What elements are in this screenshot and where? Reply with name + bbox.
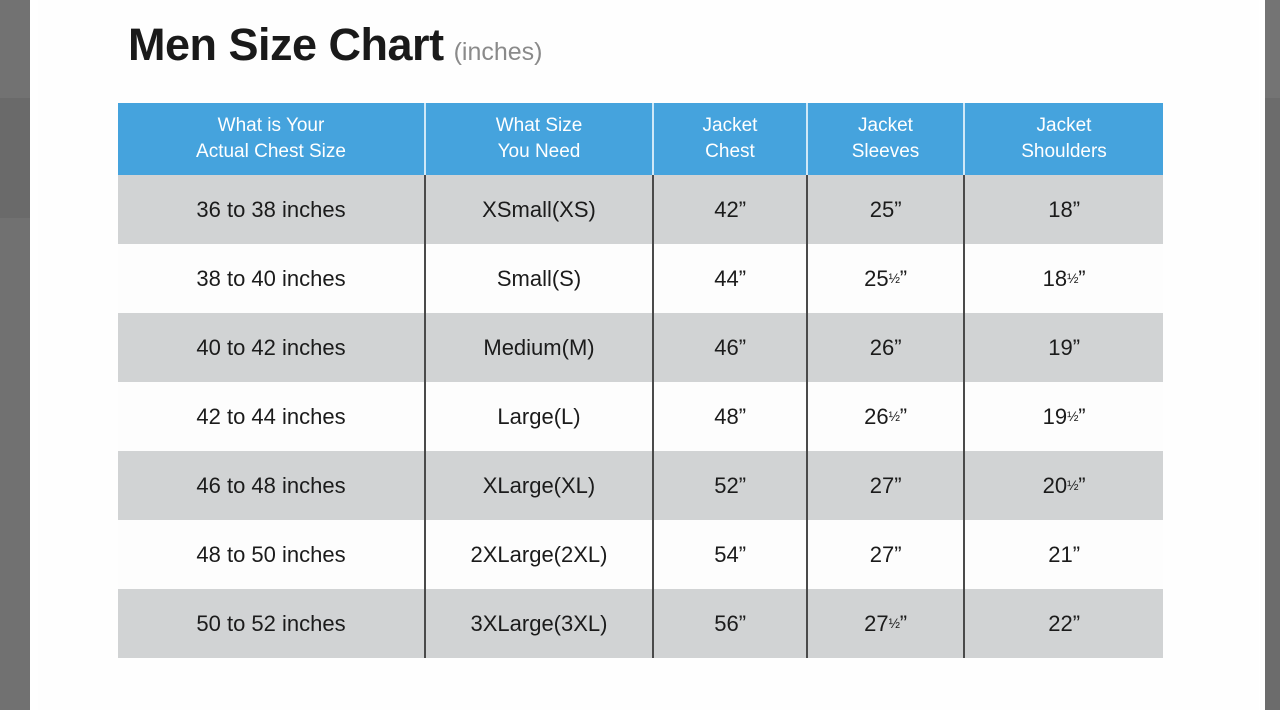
table-row: 48 to 50 inches2XLarge(2XL)54”27”21” xyxy=(118,520,1163,589)
cell-jacket-chest: 42” xyxy=(653,175,807,244)
fraction-half: ½ xyxy=(889,616,900,631)
cell-size-you-need: Medium(M) xyxy=(425,313,653,382)
column-header-line2: Shoulders xyxy=(969,139,1159,165)
cell-jacket-chest: 54” xyxy=(653,520,807,589)
size-chart-page: Men Size Chart (inches) What is Your Act… xyxy=(38,0,1259,710)
cell-jacket-sleeves: 27” xyxy=(807,451,964,520)
inch-mark: ” xyxy=(894,542,901,567)
left-band-segment-top xyxy=(0,0,30,98)
cell-size-you-need: 2XLarge(2XL) xyxy=(425,520,653,589)
table-row: 38 to 40 inchesSmall(S)44”25½”18½” xyxy=(118,244,1163,313)
inch-mark: ” xyxy=(900,611,907,636)
cell-actual-chest-size: 46 to 48 inches xyxy=(118,451,425,520)
cell-jacket-shoulders: 20½” xyxy=(964,451,1163,520)
column-header-line2: Chest xyxy=(658,139,802,165)
inch-mark: ” xyxy=(1073,335,1080,360)
cell-jacket-shoulders: 22” xyxy=(964,589,1163,658)
inch-mark: ” xyxy=(739,473,746,498)
cell-jacket-sleeves: 27½” xyxy=(807,589,964,658)
inch-mark: ” xyxy=(739,266,746,291)
table-row: 36 to 38 inchesXSmall(XS)42”25”18” xyxy=(118,175,1163,244)
inch-mark: ” xyxy=(739,197,746,222)
right-edge-band xyxy=(1265,0,1280,710)
cell-jacket-chest: 52” xyxy=(653,451,807,520)
column-header-line1: Jacket xyxy=(812,113,959,139)
page-title-main: Men Size Chart xyxy=(128,22,444,67)
cell-jacket-sleeves: 25½” xyxy=(807,244,964,313)
fraction-half: ½ xyxy=(889,271,900,286)
column-header-line2: You Need xyxy=(430,139,648,165)
cell-actual-chest-size: 36 to 38 inches xyxy=(118,175,425,244)
column-header-line2: Sleeves xyxy=(812,139,959,165)
fraction-half: ½ xyxy=(1067,478,1078,493)
column-header-line1: What is Your xyxy=(122,113,420,139)
column-header-line1: Jacket xyxy=(658,113,802,139)
inch-mark: ” xyxy=(1073,542,1080,567)
page-title-units: (inches) xyxy=(454,40,543,65)
column-header-jacket-chest: Jacket Chest xyxy=(653,103,807,175)
inch-mark: ” xyxy=(1078,404,1085,429)
table-body: 36 to 38 inchesXSmall(XS)42”25”18”38 to … xyxy=(118,175,1163,658)
cell-size-you-need: XLarge(XL) xyxy=(425,451,653,520)
cell-jacket-sleeves: 27” xyxy=(807,520,964,589)
column-header-size-you-need: What Size You Need xyxy=(425,103,653,175)
column-header-jacket-shoulders: Jacket Shoulders xyxy=(964,103,1163,175)
cell-size-you-need: 3XLarge(3XL) xyxy=(425,589,653,658)
inch-mark: ” xyxy=(1078,473,1085,498)
cell-size-you-need: Small(S) xyxy=(425,244,653,313)
column-header-actual-chest-size: What is Your Actual Chest Size xyxy=(118,103,425,175)
cell-jacket-shoulders: 18” xyxy=(964,175,1163,244)
right-band-segment-top xyxy=(1265,0,1280,98)
inch-mark: ” xyxy=(894,473,901,498)
page-title: Men Size Chart (inches) xyxy=(128,22,542,67)
fraction-half: ½ xyxy=(1067,271,1078,286)
cell-size-you-need: Large(L) xyxy=(425,382,653,451)
cell-jacket-shoulders: 19½” xyxy=(964,382,1163,451)
cell-jacket-sleeves: 26½” xyxy=(807,382,964,451)
inch-mark: ” xyxy=(1073,197,1080,222)
size-chart-table: What is Your Actual Chest Size What Size… xyxy=(118,103,1163,658)
cell-actual-chest-size: 40 to 42 inches xyxy=(118,313,425,382)
inch-mark: ” xyxy=(1078,266,1085,291)
cell-jacket-chest: 44” xyxy=(653,244,807,313)
table-header: What is Your Actual Chest Size What Size… xyxy=(118,103,1163,175)
table-row: 42 to 44 inchesLarge(L)48”26½”19½” xyxy=(118,382,1163,451)
cell-jacket-shoulders: 21” xyxy=(964,520,1163,589)
left-edge-band xyxy=(0,0,30,710)
cell-jacket-sleeves: 26” xyxy=(807,313,964,382)
cell-jacket-shoulders: 19” xyxy=(964,313,1163,382)
cell-jacket-chest: 46” xyxy=(653,313,807,382)
left-band-segment-bottom xyxy=(0,218,30,710)
column-header-line2: Actual Chest Size xyxy=(122,139,420,165)
table-row: 50 to 52 inches3XLarge(3XL)56”27½”22” xyxy=(118,589,1163,658)
fraction-half: ½ xyxy=(889,409,900,424)
table-row: 46 to 48 inchesXLarge(XL)52”27”20½” xyxy=(118,451,1163,520)
column-header-jacket-sleeves: Jacket Sleeves xyxy=(807,103,964,175)
column-header-line1: What Size xyxy=(430,113,648,139)
column-header-line1: Jacket xyxy=(969,113,1159,139)
inch-mark: ” xyxy=(894,335,901,360)
inch-mark: ” xyxy=(739,335,746,360)
cell-actual-chest-size: 50 to 52 inches xyxy=(118,589,425,658)
cell-actual-chest-size: 38 to 40 inches xyxy=(118,244,425,313)
left-band-segment-middle xyxy=(0,98,30,218)
cell-actual-chest-size: 48 to 50 inches xyxy=(118,520,425,589)
table-row: 40 to 42 inchesMedium(M)46”26”19” xyxy=(118,313,1163,382)
right-band-segment-bottom xyxy=(1265,98,1280,710)
cell-jacket-chest: 56” xyxy=(653,589,807,658)
cell-jacket-chest: 48” xyxy=(653,382,807,451)
table-header-row: What is Your Actual Chest Size What Size… xyxy=(118,103,1163,175)
fraction-half: ½ xyxy=(1067,409,1078,424)
inch-mark: ” xyxy=(894,197,901,222)
cell-size-you-need: XSmall(XS) xyxy=(425,175,653,244)
inch-mark: ” xyxy=(739,404,746,429)
inch-mark: ” xyxy=(1073,611,1080,636)
left-page-gutter xyxy=(30,0,38,710)
cell-jacket-shoulders: 18½” xyxy=(964,244,1163,313)
inch-mark: ” xyxy=(739,542,746,567)
inch-mark: ” xyxy=(900,404,907,429)
inch-mark: ” xyxy=(739,611,746,636)
cell-jacket-sleeves: 25” xyxy=(807,175,964,244)
inch-mark: ” xyxy=(900,266,907,291)
cell-actual-chest-size: 42 to 44 inches xyxy=(118,382,425,451)
